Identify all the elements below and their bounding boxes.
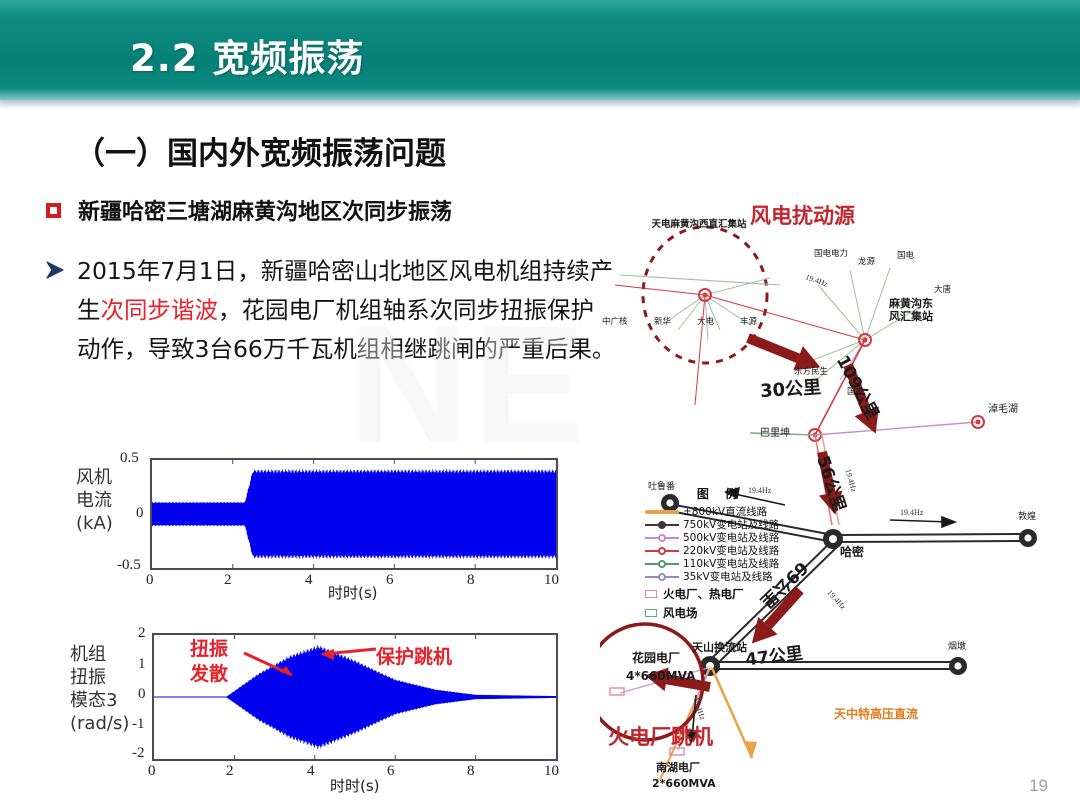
chart1-xtick-2: 4: [305, 572, 313, 589]
chart1-xtick-5: 10: [544, 572, 559, 589]
chart2-annotation-1: 扭振 发散: [190, 637, 228, 687]
legend-box-label: 风电场: [663, 605, 698, 621]
bullet-level2: 2015年7月1日，新疆哈密山北地区风电机组持续产生次同步谐波，花园电厂机组轴系…: [44, 252, 624, 369]
chart2-annotation-2-arrow-icon: [316, 640, 380, 666]
arrow-bullet-icon: [44, 259, 66, 281]
plant-label-nanhu-rating: 2*660MVA: [652, 778, 716, 791]
chart2-xtick-5: 10: [544, 763, 559, 780]
station-label-guodian: 国电: [897, 252, 914, 262]
station-label-naomaohu: 淖毛湖: [988, 404, 1018, 416]
chart2-ytick-1: 1: [138, 656, 146, 673]
legend-line-item: 35kV变电站及线路: [645, 570, 795, 583]
legend-line-label: 35kV变电站及线路: [683, 569, 773, 584]
paragraph-text: 2015年7月1日，新疆哈密山北地区风电机组持续产生次同步谐波，花园电厂机组轴系…: [77, 252, 617, 369]
plant-label-nanhu-name: 南湖电厂: [656, 762, 700, 775]
bullet-level1: 新疆哈密三塘湖麻黄沟地区次同步振荡: [46, 194, 452, 226]
station-label-machanggou-west: 天电麻黄沟西直汇集站: [644, 220, 754, 231]
legend-box-symbol-icon: [645, 609, 657, 617]
chart2-xtick-3: 6: [387, 763, 395, 780]
chart2-annotation-2: 保护跳机: [376, 645, 452, 670]
chart1-ytick-min: -0.5: [117, 557, 141, 574]
chart1-xaxis-title: 时时(s): [328, 582, 378, 603]
page-number: 19: [1029, 776, 1048, 796]
legend-box-item: 火电厂、热电厂: [645, 586, 795, 602]
slide-title: 2.2 宽频振荡: [130, 28, 364, 82]
station-label-dunhuang: 敦煌: [1018, 512, 1036, 522]
legend-line-symbol-icon: [645, 506, 679, 517]
chart2-ytick-0: 2: [138, 625, 146, 642]
legend-line-symbol-icon: [645, 519, 679, 530]
bullet-level1-label: 新疆哈密三塘湖麻黄沟地区次同步振荡: [78, 194, 452, 226]
chart1-plot-area: [150, 458, 558, 570]
station-label-machanggou-east: 麻黄沟东风汇集站: [889, 298, 943, 323]
square-bullet-icon: [46, 203, 61, 218]
station-label-longyuan: 龙源: [858, 258, 875, 268]
legend-box-symbol-icon: [645, 590, 657, 598]
power-grid-diagram: 风电扰动源 天电麻黄沟西直汇集站 麻黄沟东风汇集站 国电电力 龙源 国电 大唐 …: [600, 190, 1080, 790]
distance-label-30km: 30公里: [759, 373, 822, 403]
legend-box-label: 火电厂、热电厂: [663, 586, 744, 602]
chart2-ytick-2: 0: [138, 686, 146, 703]
chart2-xtick-2: 4: [307, 763, 315, 780]
plant-label-huayuan-rating: 4*660MVA: [626, 670, 695, 684]
chart2-xtick-1: 2: [226, 763, 234, 780]
plant-label-huayuan-name: 花园电厂: [632, 652, 680, 666]
station-label-guodian-power: 国电电力: [814, 250, 848, 260]
station-label-tianshan-converter: 天山换流站: [692, 642, 747, 655]
chart2-xtick-4: 8: [467, 763, 475, 780]
chart2-annotation-1-arrow-icon: [242, 647, 308, 687]
station-label-fengyuan: 丰源: [740, 318, 757, 328]
callout-thermal-plant-trip: 火电厂跳机: [608, 725, 713, 749]
chart1-xtick-3: 6: [386, 572, 394, 589]
chart1-ytick-max: 0.5: [120, 450, 139, 467]
chart1-ylabel: 风机 电流 (kA): [76, 466, 113, 535]
station-label-balikun: 巴里坤: [760, 428, 790, 440]
legend-line-symbol-icon: [645, 532, 679, 543]
station-label-dadian: 大电: [697, 318, 714, 328]
section-heading: （一）国内外宽频振荡问题: [74, 128, 446, 173]
legend-title: 图 例: [645, 485, 795, 502]
chart1-ytick-mid: 0: [136, 505, 144, 522]
chart-shaft-torsional-mode3: 机组 扭振 模态3 (rad/s) 2 1 0 -1 -2 扭振 发散 保护跳机…: [60, 615, 620, 800]
chart2-ylabel: 机组 扭振 模态3 (rad/s): [70, 643, 129, 735]
callout-wind-disturbance-source: 风电扰动源: [750, 204, 855, 228]
freq-label-4: 19.4Hz: [900, 508, 923, 517]
chart2-ytick-3: -1: [132, 716, 145, 733]
legend-line-list: ±800kV直流线路750kV变电站及线路500kV变电站及线路220kV变电站…: [645, 505, 795, 583]
slide-header-bar: 2.2 宽频振荡: [0, 0, 1080, 100]
station-label-cgn: 中广核: [602, 318, 628, 328]
chart1-xtick-4: 8: [467, 572, 475, 589]
station-label-yandun: 烟墩: [948, 642, 966, 652]
chart-wind-turbine-current: 风机 电流 (kA) 0.5 0 -0.5 0 2 4 6 8 10 时时(s): [60, 440, 620, 605]
paragraph-highlight: 次同步谐波: [101, 296, 219, 324]
chart1-xtick-0: 0: [146, 572, 154, 589]
station-label-datang: 大唐: [934, 286, 951, 296]
hvdc-label: 天中特高压直流: [834, 708, 918, 722]
chart2-ytick-4: -2: [132, 745, 145, 762]
station-label-hami: 哈密: [840, 546, 864, 560]
legend-line-symbol-icon: [645, 545, 679, 556]
chart2-xaxis-title: 时时(s): [330, 775, 380, 796]
chart1-waveform: [152, 460, 556, 568]
map-legend: 图 例 ±800kV直流线路750kV变电站及线路500kV变电站及线路220k…: [645, 485, 795, 621]
legend-box-list: 火电厂、热电厂风电场: [645, 586, 795, 621]
chart1-xtick-1: 2: [224, 572, 232, 589]
legend-line-symbol-icon: [645, 571, 679, 582]
legend-box-item: 风电场: [645, 605, 795, 621]
legend-line-symbol-icon: [645, 558, 679, 569]
station-label-xinhua: 新华: [654, 318, 671, 328]
chart2-xtick-0: 0: [148, 763, 156, 780]
